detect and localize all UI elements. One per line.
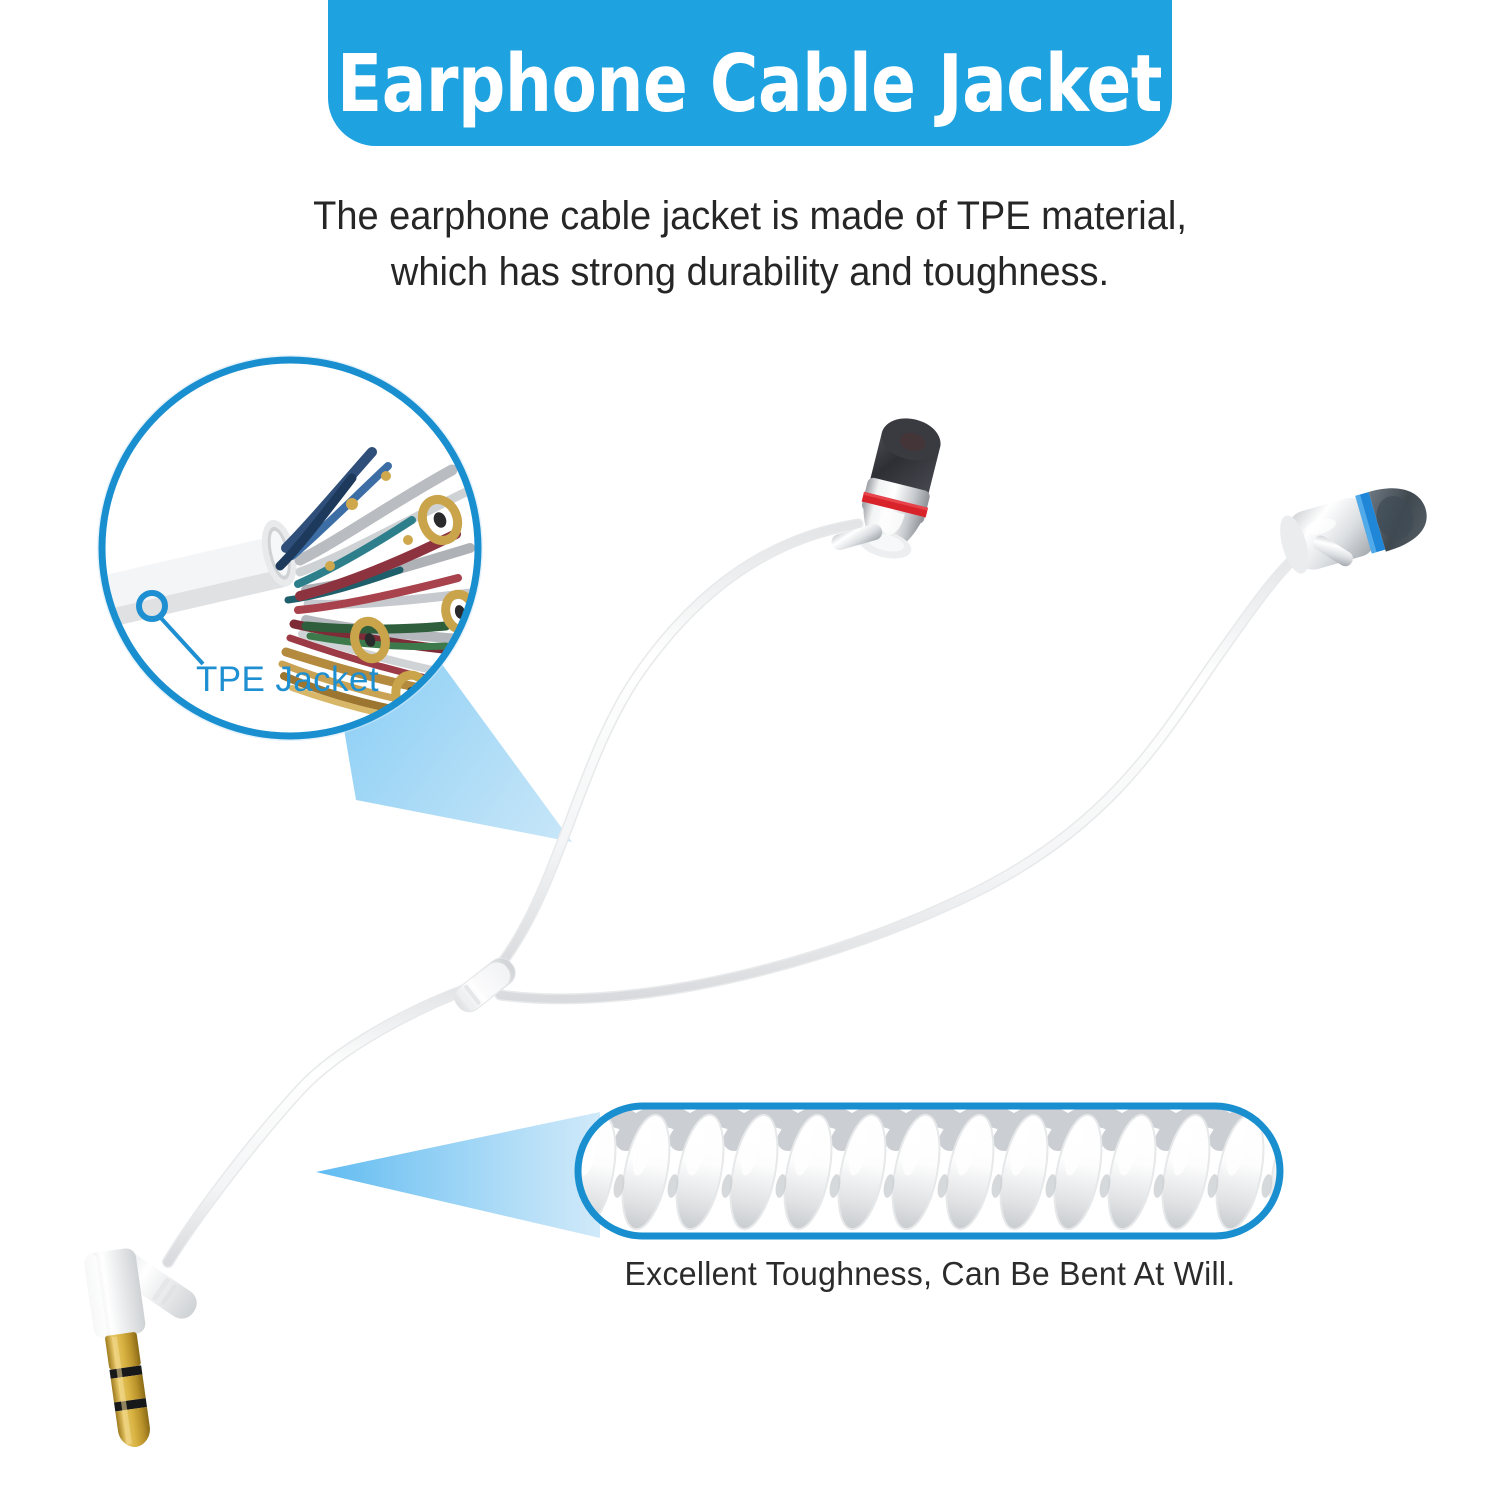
toughness-callout: [560, 1106, 1325, 1236]
audio-jack-plug: [83, 1236, 222, 1451]
tpe-jacket-label: TPE Jacket: [196, 660, 379, 700]
toughness-pointer-cone: [316, 1112, 600, 1238]
title-banner: Earphone Cable Jacket: [328, 0, 1172, 146]
left-earbud: [826, 406, 948, 571]
toughness-caption: Excellent Toughness, Can Be Bent At Will…: [484, 1255, 1376, 1293]
infographic-page: Earphone Cable Jacket The earphone cable…: [0, 0, 1500, 1500]
subtitle-line-1: The earphone cable jacket is made of TPE…: [38, 188, 1463, 244]
page-title: Earphone Cable Jacket: [338, 45, 1163, 124]
cable-splitter: [450, 953, 521, 1017]
subtitle-description: The earphone cable jacket is made of TPE…: [38, 188, 1463, 300]
subtitle-line-2: which has strong durability and toughnes…: [38, 244, 1463, 300]
right-earbud: [1275, 478, 1436, 584]
